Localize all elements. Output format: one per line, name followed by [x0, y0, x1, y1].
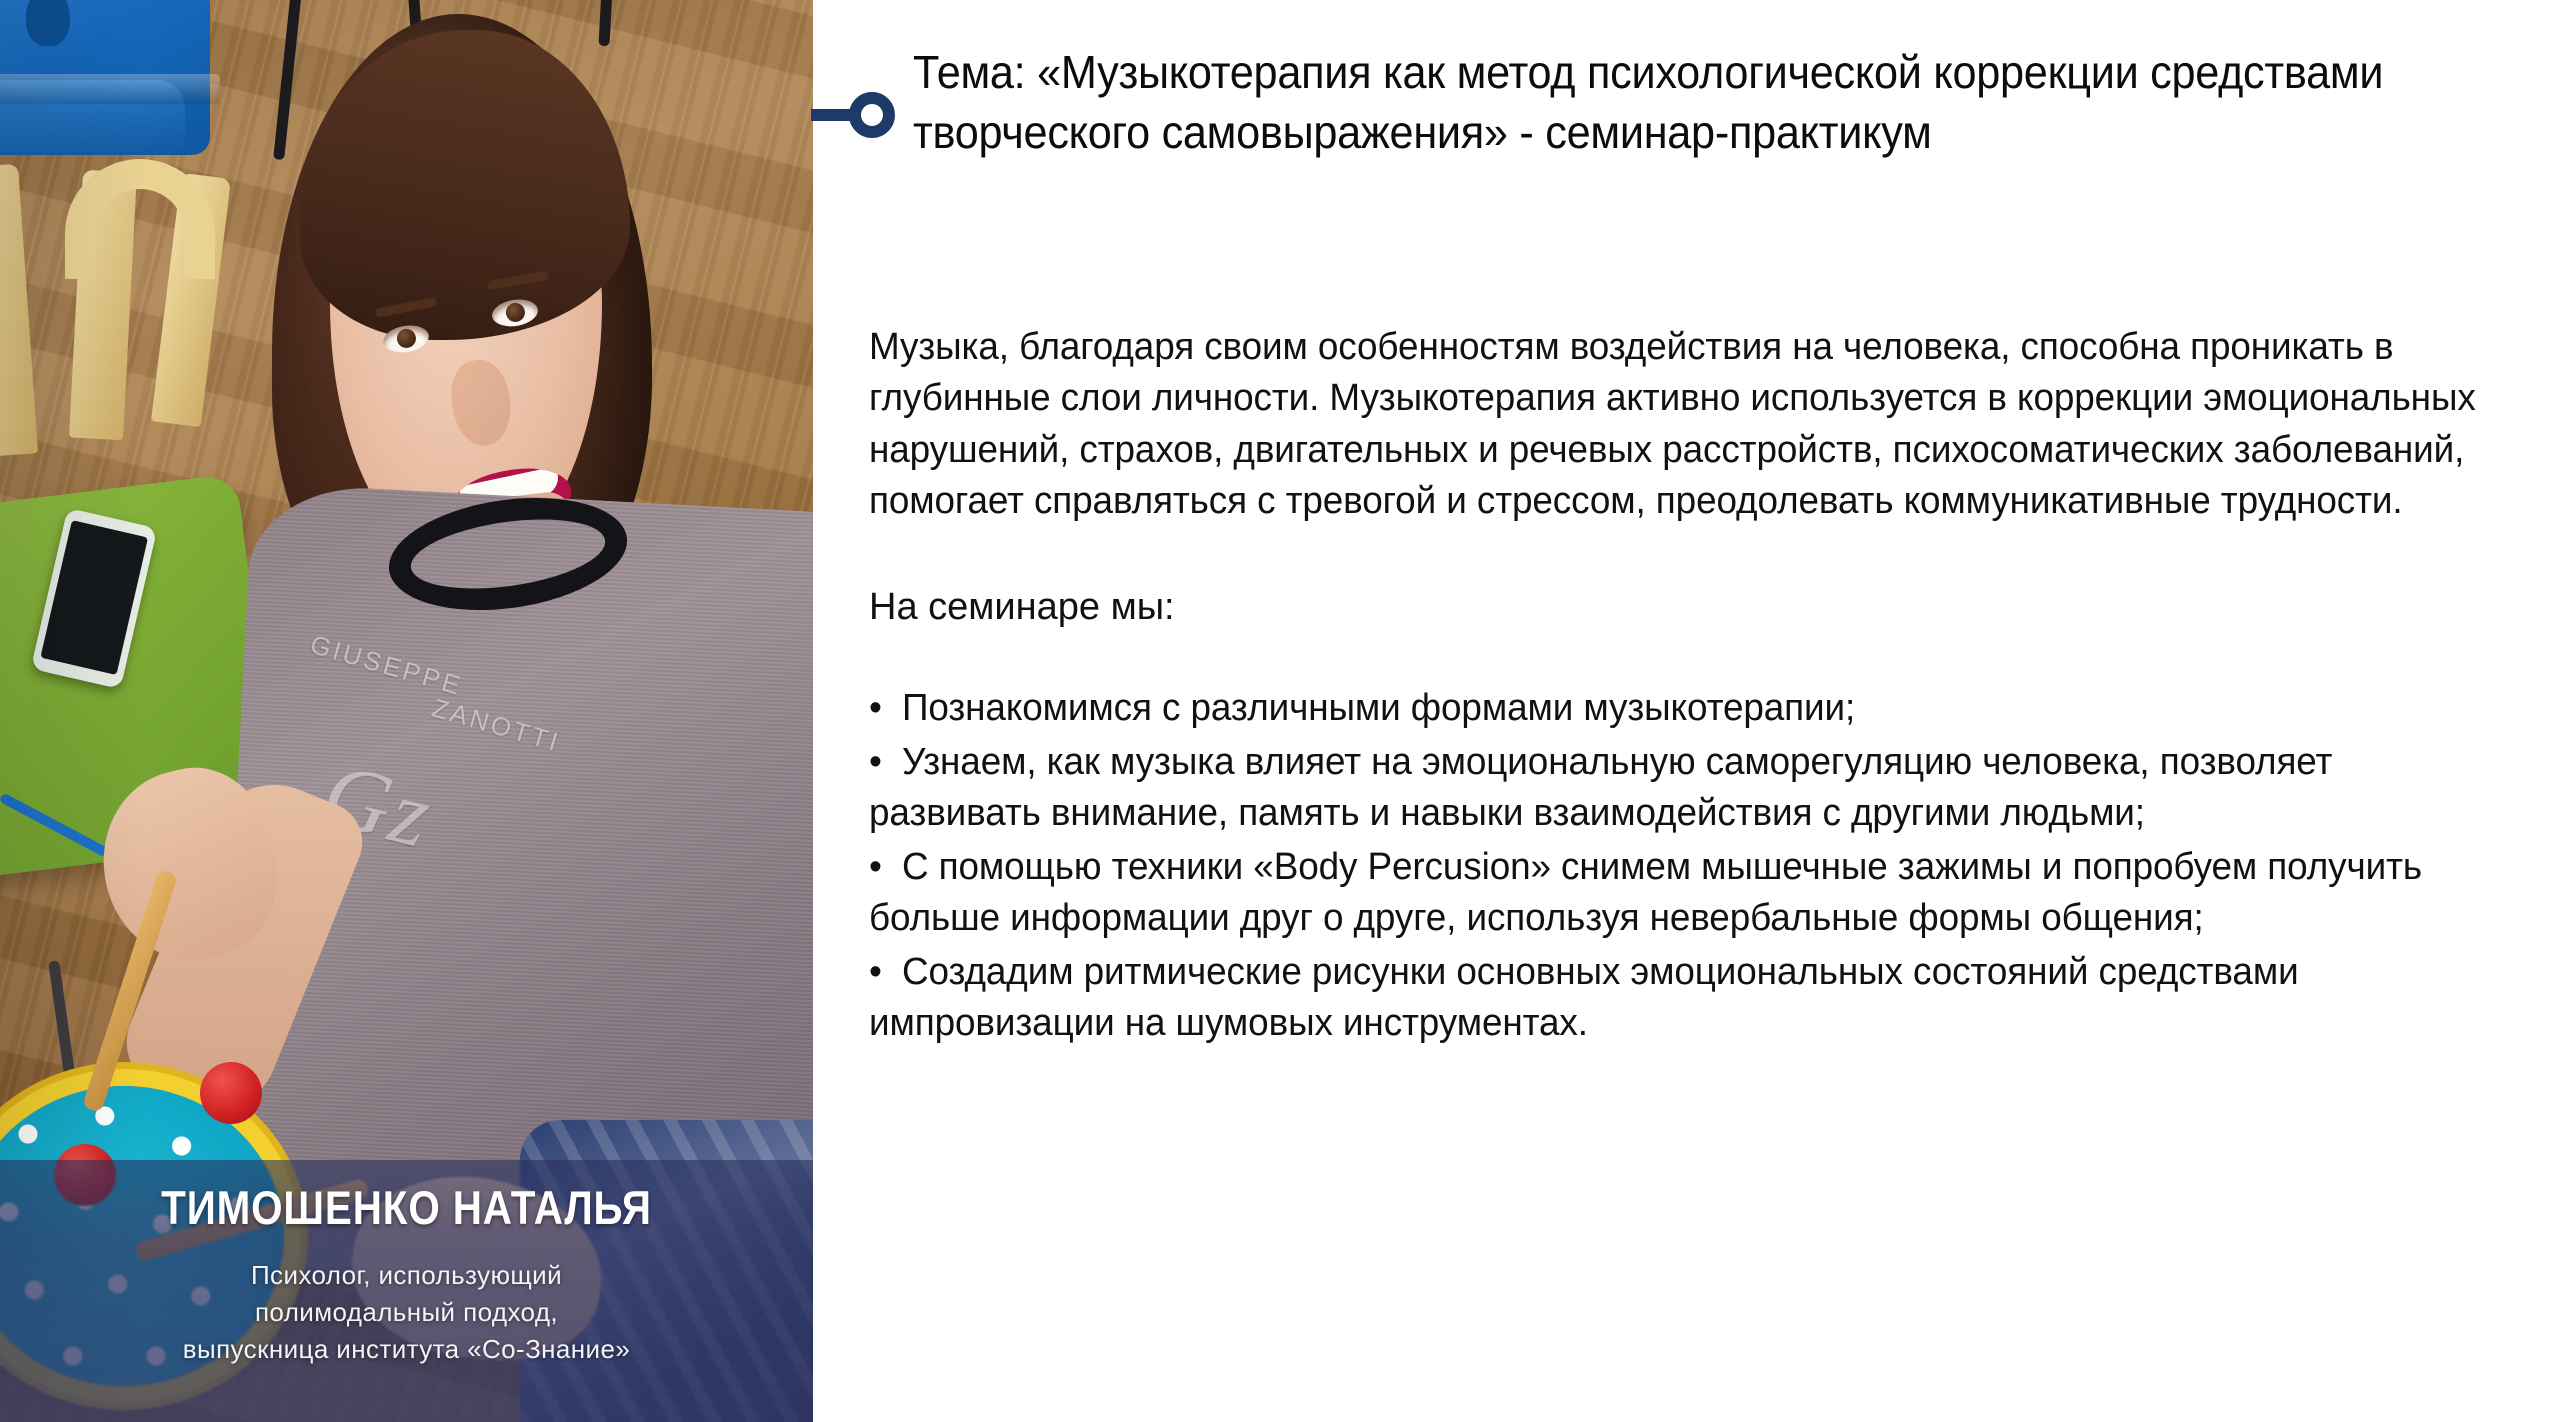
list-item: •Познакомимся с различными формами музык… — [869, 683, 2479, 734]
list-item-text: Создадим ритмические рисунки основных эм… — [869, 951, 2299, 1044]
spacer — [869, 528, 2529, 582]
bullet-marker: • — [869, 737, 902, 788]
list-item: •Создадим ритмические рисунки основных э… — [869, 947, 2479, 1050]
speaker-role-line-2: полимодальный подход, — [255, 1297, 558, 1327]
speaker-role-line-1: Психолог, использующий — [251, 1260, 562, 1290]
speaker-caption-overlay: ТИМОШЕНКО НАТАЛЬЯ Психолог, использующий… — [0, 1160, 813, 1422]
speaker-role: Психолог, использующий полимодальный под… — [26, 1257, 787, 1368]
ring-bullet-icon — [811, 92, 911, 138]
list-item: •С помощью техники «Body Percusion» сним… — [869, 842, 2479, 945]
list-item-text: Узнаем, как музыка влияет на эмоциональн… — [869, 741, 2332, 834]
bullet-marker: • — [869, 683, 902, 734]
speaker-photo: GIUSEPPE ZANOTTI Gz ТИМОШЕНКО НАТАЛЬЯ Пс… — [0, 0, 813, 1422]
speaker-caption: ТИМОШЕНКО НАТАЛЬЯ Психолог, использующий… — [0, 1184, 813, 1368]
list-item: •Узнаем, как музыка влияет на эмоциональ… — [869, 737, 2479, 840]
intro-paragraph: Музыка, благодаря своим особенностям воз… — [869, 322, 2479, 528]
slide-root: GIUSEPPE ZANOTTI Gz ТИМОШЕНКО НАТАЛЬЯ Пс… — [0, 0, 2560, 1422]
bullet-marker: • — [869, 947, 902, 998]
spacer — [869, 633, 2529, 683]
speaker-role-line-3: выпускница института «Со-Знание» — [183, 1334, 630, 1364]
page-title: Тема: «Музыкотерапия как метод психологи… — [913, 42, 2426, 163]
seminar-topics-list: •Познакомимся с различными формами музык… — [869, 683, 2529, 1049]
body-block: Музыка, благодаря своим особенностям воз… — [869, 322, 2529, 1052]
speaker-name: ТИМОШЕНКО НАТАЛЬЯ — [79, 1184, 733, 1233]
list-item-text: С помощью техники «Body Percusion» сниме… — [869, 846, 2422, 939]
content-panel: Тема: «Музыкотерапия как метод психологи… — [813, 0, 2560, 1422]
sweater-print-word-1: GIUSEPPE — [307, 629, 466, 702]
list-item-text: Познакомимся с различными формами музыко… — [902, 687, 1855, 729]
seminar-lead-in: На семинаре мы: — [869, 582, 2529, 633]
red-mallet-head — [200, 1062, 262, 1124]
sweater-print-word-2: ZANOTTI — [428, 692, 564, 758]
marker-ring-shape — [849, 92, 895, 138]
bullet-marker: • — [869, 842, 902, 893]
